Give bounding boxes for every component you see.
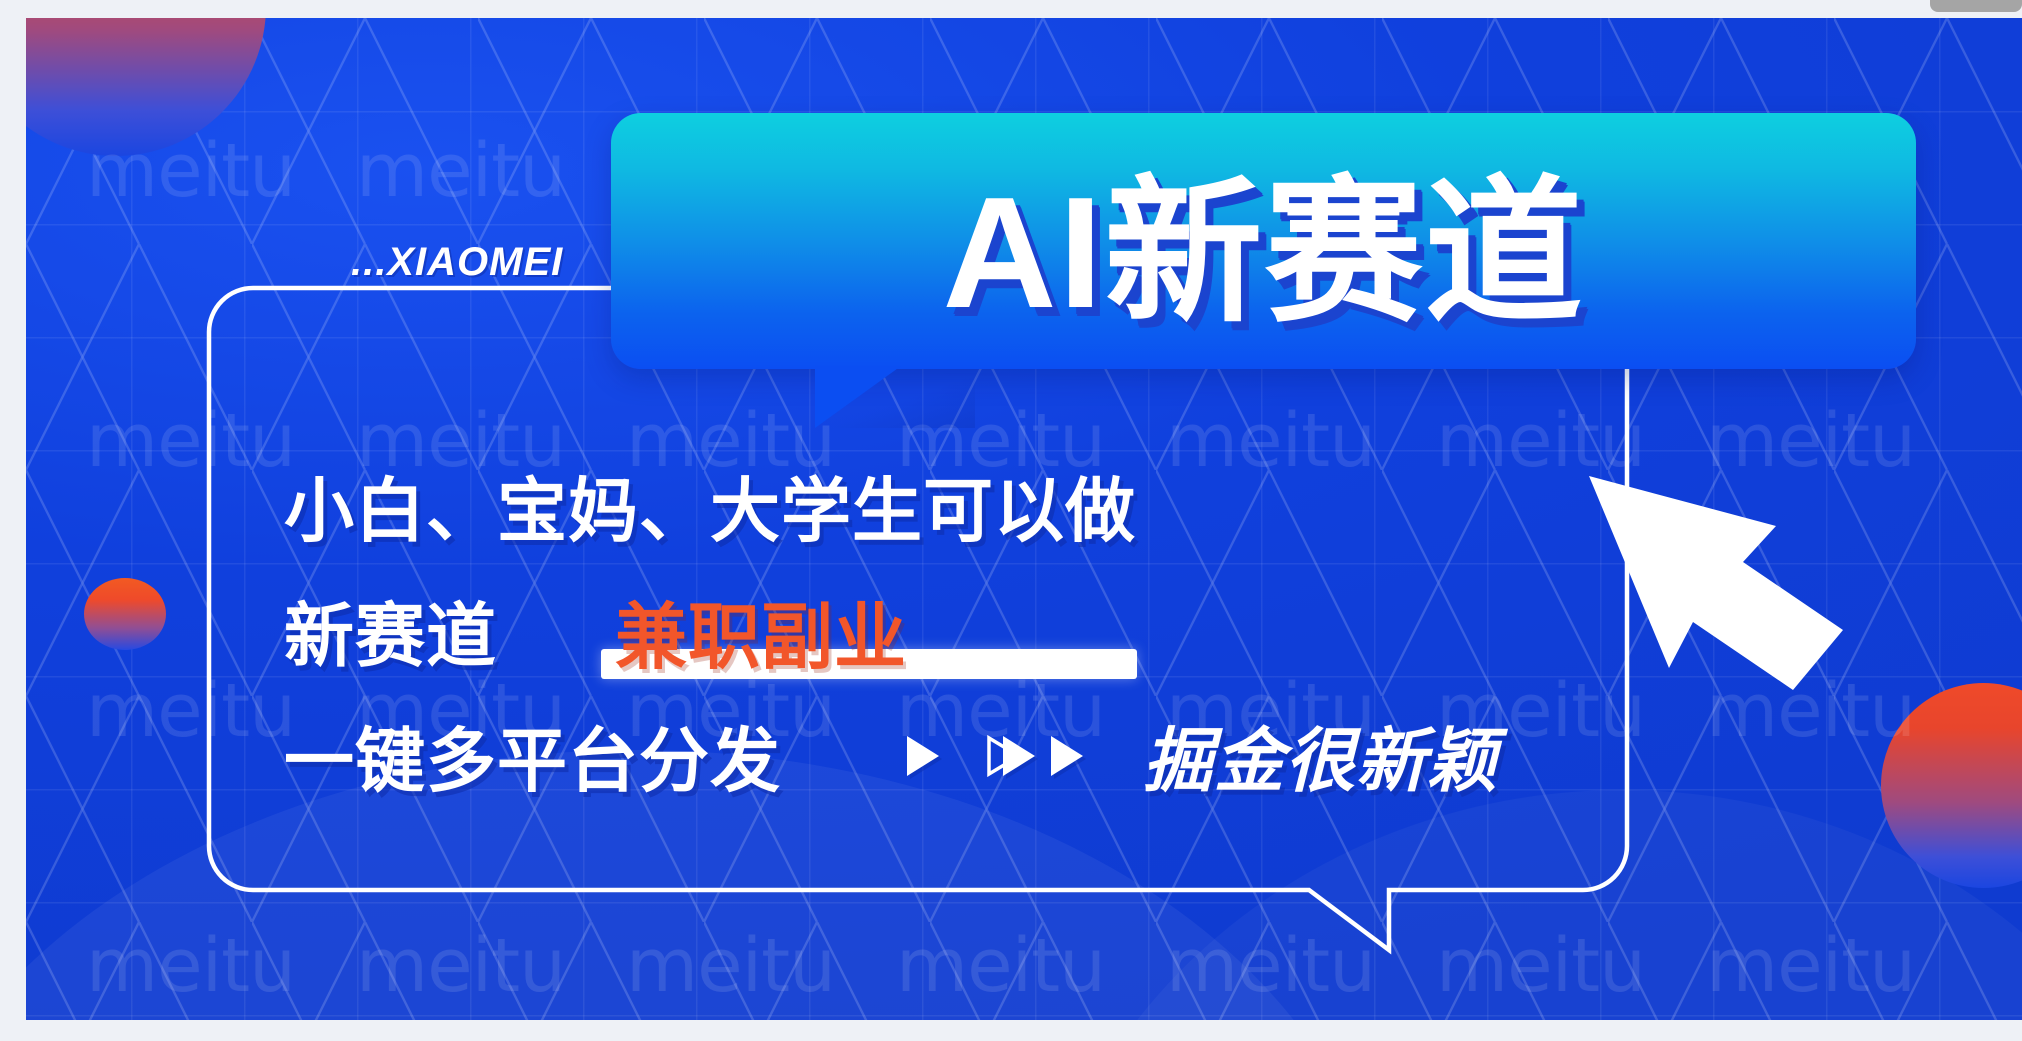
page-title: AI新赛道 <box>611 113 1916 369</box>
watermark-text: meitu <box>356 923 565 1009</box>
play-arrow-icon-4 <box>1051 736 1083 776</box>
watermark-text: meitu <box>86 923 295 1009</box>
title-badge: AI新赛道 <box>611 113 1916 369</box>
decorative-circle-left-small <box>84 578 166 650</box>
arrow-marker-group <box>907 736 1083 776</box>
play-arrow-icon-3 <box>1003 736 1035 776</box>
poster-image: meitumeitumeitumeitumeitumeitumeitumeitu… <box>26 18 2022 1020</box>
brand-label: ...XIAOMEI <box>351 240 563 285</box>
highlight-phrase-wrapper: 兼职副业 <box>615 578 907 683</box>
watermark-text: meitu <box>356 128 565 214</box>
bullet-line-2: 新赛道 兼职副业 <box>284 568 1624 693</box>
watermark-text: meitu <box>1166 923 1375 1009</box>
cursor-arrow-icon <box>1571 458 1861 718</box>
play-arrow-outline-icon-2 <box>955 736 987 776</box>
highlight-phrase: 兼职副业 <box>615 598 907 678</box>
watermark-text: meitu <box>1706 923 1915 1009</box>
screenshot-canvas: meitumeitumeitumeitumeitumeitumeitumeitu… <box>0 0 2022 1041</box>
bullet-line-1: 小白、宝妈、大学生可以做 <box>284 443 1624 568</box>
title-badge-tail <box>815 366 901 428</box>
play-arrow-icon-1 <box>907 736 939 776</box>
watermark-text: meitu <box>1436 923 1645 1009</box>
window-chrome-pill[interactable] <box>1930 0 2022 12</box>
watermark-text: meitu <box>86 128 295 214</box>
bullet-line-1-text: 小白、宝妈、大学生可以做 <box>284 455 1136 556</box>
bullet-line-3-text: 一键多平台分发 <box>284 705 781 806</box>
bullet-line-3-tail-text: 掘金很新颖 <box>1143 705 1498 806</box>
watermark-text: meitu <box>896 923 1105 1009</box>
bullet-line-2-text: 新赛道 <box>284 580 497 681</box>
watermark-text: meitu <box>626 923 835 1009</box>
bullet-line-3: 一键多平台分发 掘金很新颖 <box>284 693 1624 818</box>
bullet-lines: 小白、宝妈、大学生可以做 新赛道 兼职副业 一键多平台分发 <box>284 443 1624 818</box>
